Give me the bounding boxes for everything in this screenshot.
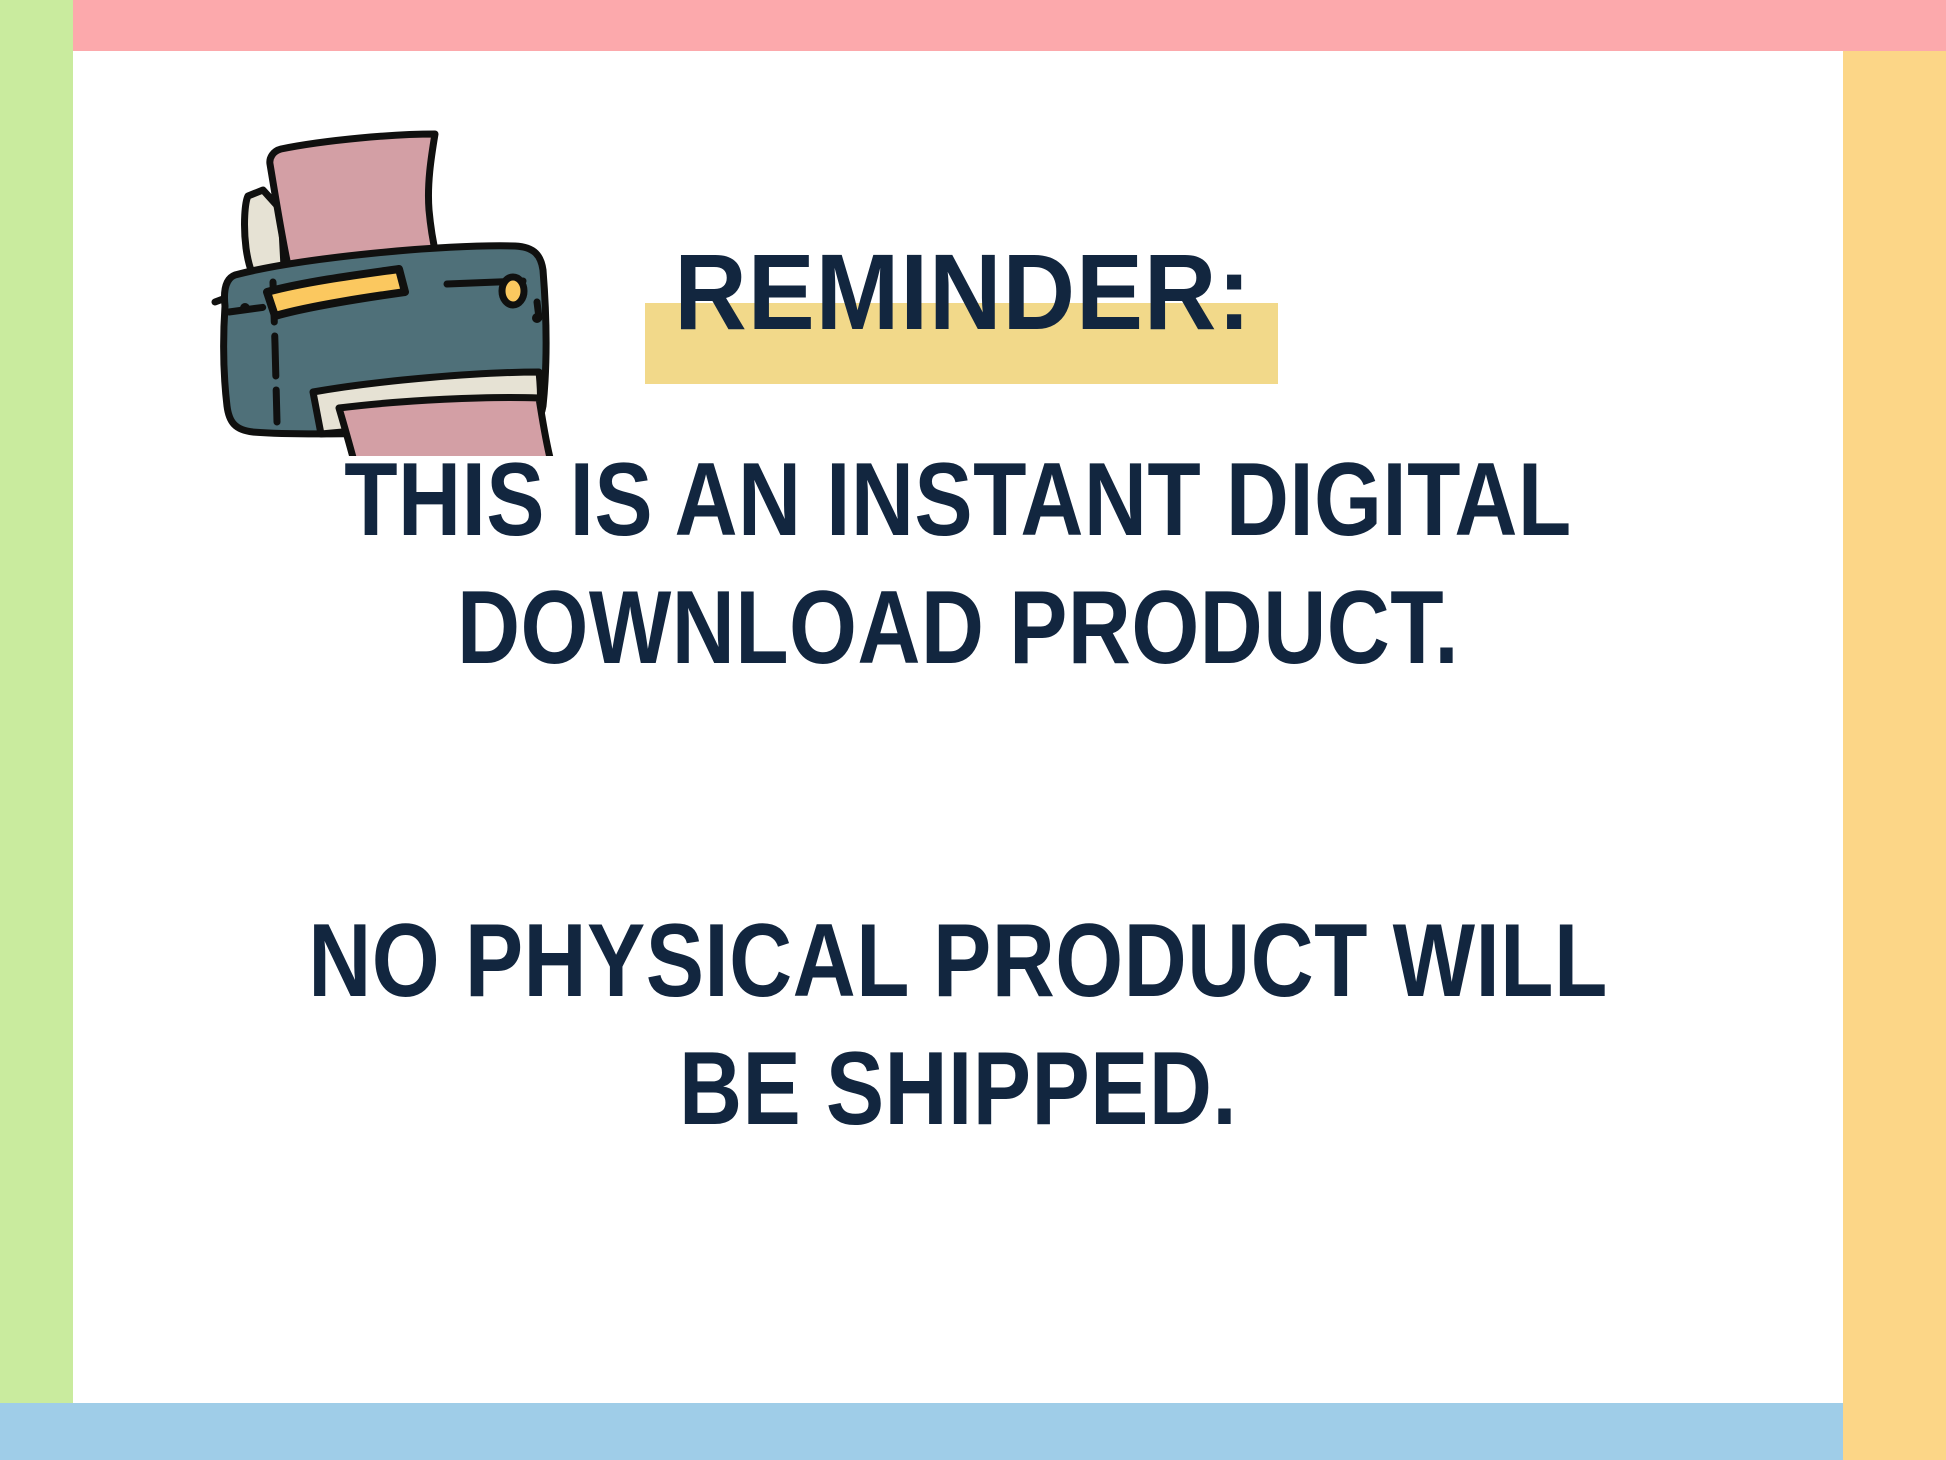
page-title: REMINDER: (661, 229, 1266, 354)
border-band-bottom-blue (0, 1403, 1843, 1460)
copy-line: THIS IS AN INSTANT DIGITAL (294, 436, 1621, 564)
heading-block: REMINDER: (638, 229, 1288, 389)
content-panel: REMINDER: THIS IS AN INSTANT DIGITAL DOW… (73, 51, 1843, 1403)
border-band-top-pink (73, 0, 1946, 51)
body-copy-block: THIS IS AN INSTANT DIGITAL DOWNLOAD PROD… (168, 436, 1748, 1153)
paragraph-spacer (168, 692, 1748, 897)
printer-icon (203, 106, 623, 456)
poster-canvas: REMINDER: THIS IS AN INSTANT DIGITAL DOW… (0, 0, 1946, 1460)
copy-line: NO PHYSICAL PRODUCT WILL (294, 897, 1621, 1025)
copy-line: BE SHIPPED. (294, 1025, 1621, 1153)
copy-line: DOWNLOAD PRODUCT. (294, 564, 1621, 692)
border-band-left-green (0, 0, 73, 1403)
border-band-right-yellow (1843, 51, 1946, 1460)
